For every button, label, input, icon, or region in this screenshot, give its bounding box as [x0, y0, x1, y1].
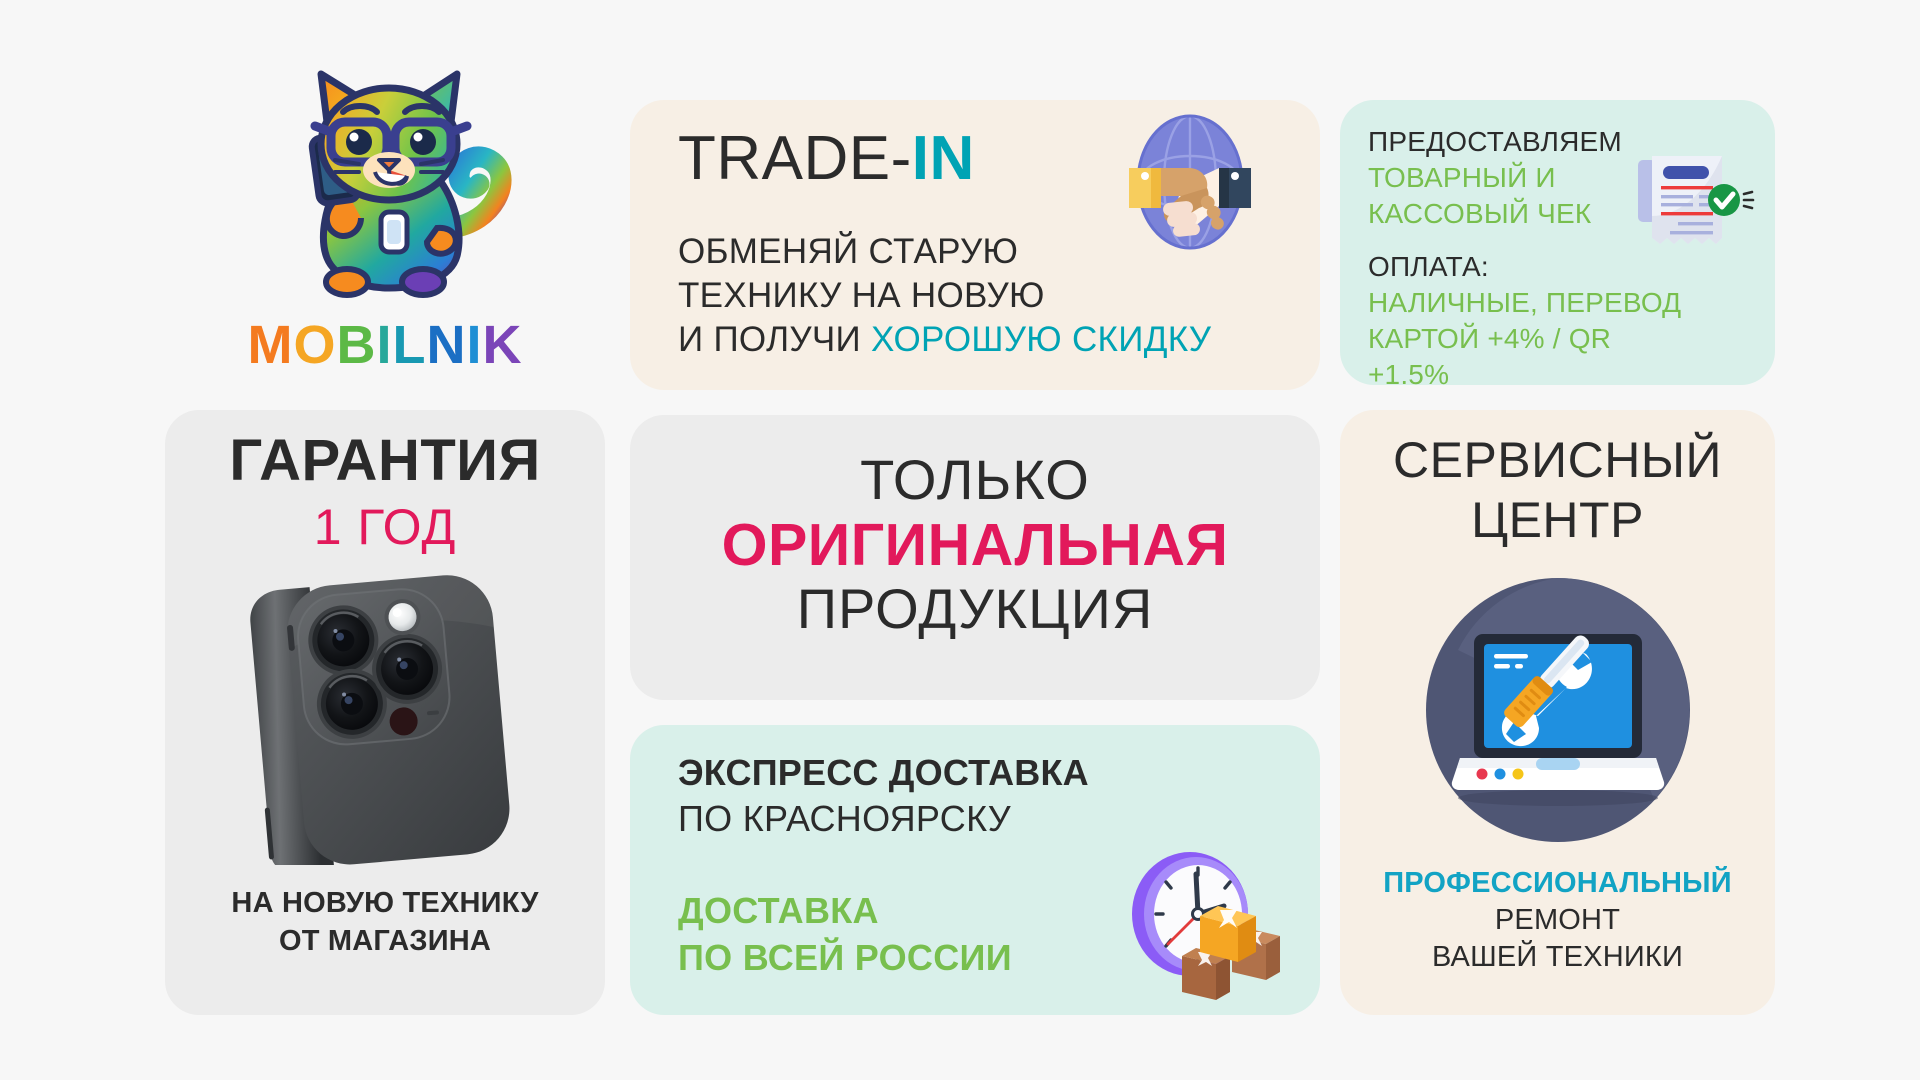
wordmark-letter-0: M	[247, 318, 293, 372]
warranty-subtitle: 1 ГОД	[165, 502, 605, 552]
trade-in-line3: И ПОЛУЧИ ХОРОШУЮ СКИДКУ	[678, 318, 1211, 362]
service-center-footer: ПРОФЕССИОНАЛЬНЫЙ РЕМОНТ ВАШЕЙ ТЕХНИКИ	[1340, 865, 1775, 976]
card-warranty: ГАРАНТИЯ 1 ГОД	[165, 410, 605, 1015]
trade-in-line2: ТЕХНИКУ НА НОВУЮ	[678, 274, 1211, 318]
wordmark-letter-7: K	[483, 318, 523, 372]
receipt-check-icon	[1630, 142, 1755, 265]
warranty-foot-line1: НА НОВУЮ ТЕХНИКУ	[165, 885, 605, 923]
card-delivery: ЭКСПРЕСС ДОСТАВКА ПО КРАСНОЯРСКУ ДОСТАВК…	[630, 725, 1320, 1015]
trade-in-line3-plain: И ПОЛУЧИ	[678, 320, 871, 359]
card-trade-in: TRADE-IN ОБМЕНЯЙ СТАРУЮ ТЕХНИКУ НА НОВУЮ…	[630, 100, 1320, 390]
card-receipt-payment: ПРЕДОСТАВЛЯЕМ ТОВАРНЫЙ И КАССОВЫЙ ЧЕК ОП…	[1340, 100, 1775, 385]
rainbow-cat-with-phone-icon	[255, 60, 515, 317]
delivery-russia-block: ДОСТАВКА ПО ВСЕЙ РОССИИ	[678, 888, 1012, 982]
original-line3: ПРОДУКЦИЯ	[630, 578, 1320, 641]
service-foot-line3: ВАШЕЙ ТЕХНИКИ	[1340, 939, 1775, 976]
trade-in-title: TRADE-IN	[678, 128, 975, 190]
wordmark-letter-5: N	[427, 318, 467, 372]
brand-logo-block: MOBILNIK	[165, 60, 605, 390]
wordmark-letter-1: O	[293, 318, 336, 372]
iphone-pro-camera-photo	[235, 565, 535, 870]
clock-and-parcels-icon	[1120, 840, 1285, 1010]
wordmark-letter-6: I	[467, 318, 483, 372]
wordmark-letter-2: B	[336, 318, 376, 372]
wordmark-letter-3: I	[376, 318, 392, 372]
warranty-title: ГАРАНТИЯ	[165, 432, 605, 490]
original-text-block: ТОЛЬКО ОРИГИНАЛЬНАЯ ПРОДУКЦИЯ	[630, 449, 1320, 641]
trade-in-line3-accent: ХОРОШУЮ СКИДКУ	[871, 320, 1211, 359]
card-service-center: СЕРВИСНЫЙ ЦЕНТР	[1340, 410, 1775, 1015]
delivery-subheadline: ПО КРАСНОЯРСКУ	[678, 799, 1011, 839]
trade-in-title-main: TRADE-	[678, 124, 912, 193]
service-center-title: СЕРВИСНЫЙ ЦЕНТР	[1340, 430, 1775, 550]
brand-wordmark: MOBILNIK	[165, 318, 605, 372]
original-line1: ТОЛЬКО	[630, 449, 1320, 512]
card-original-products: ТОЛЬКО ОРИГИНАЛЬНАЯ ПРОДУКЦИЯ	[630, 415, 1320, 700]
service-title-line1: СЕРВИСНЫЙ	[1340, 430, 1775, 490]
original-line2: ОРИГИНАЛЬНАЯ	[630, 512, 1320, 578]
trade-in-title-accent: IN	[912, 124, 975, 193]
delivery-green-line2: ПО ВСЕЙ РОССИИ	[678, 935, 1012, 982]
promo-banner: MOBILNIK TRADE-IN ОБМЕНЯЙ СТАРУЮ ТЕХНИКУ…	[0, 0, 1920, 1080]
service-foot-line1: ПРОФЕССИОНАЛЬНЫЙ	[1340, 865, 1775, 902]
service-foot-line2: РЕМОНТ	[1340, 902, 1775, 939]
laptop-repair-tools-icon	[1418, 570, 1698, 855]
service-title-line2: ЦЕНТР	[1340, 490, 1775, 550]
handshake-globe-icon	[1115, 110, 1265, 260]
delivery-green-line1: ДОСТАВКА	[678, 888, 1012, 935]
receipt-line6: КАРТОЙ +4% / QR +1.5%	[1368, 321, 1688, 393]
warranty-foot-line2: ОТ МАГАЗИНА	[165, 923, 605, 961]
warranty-footer: НА НОВУЮ ТЕХНИКУ ОТ МАГАЗИНА	[165, 885, 605, 960]
delivery-headline: ЭКСПРЕСС ДОСТАВКА	[678, 753, 1089, 793]
wordmark-letter-4: L	[393, 318, 427, 372]
receipt-line5: НАЛИЧНЫЕ, ПЕРЕВОД	[1368, 285, 1688, 321]
